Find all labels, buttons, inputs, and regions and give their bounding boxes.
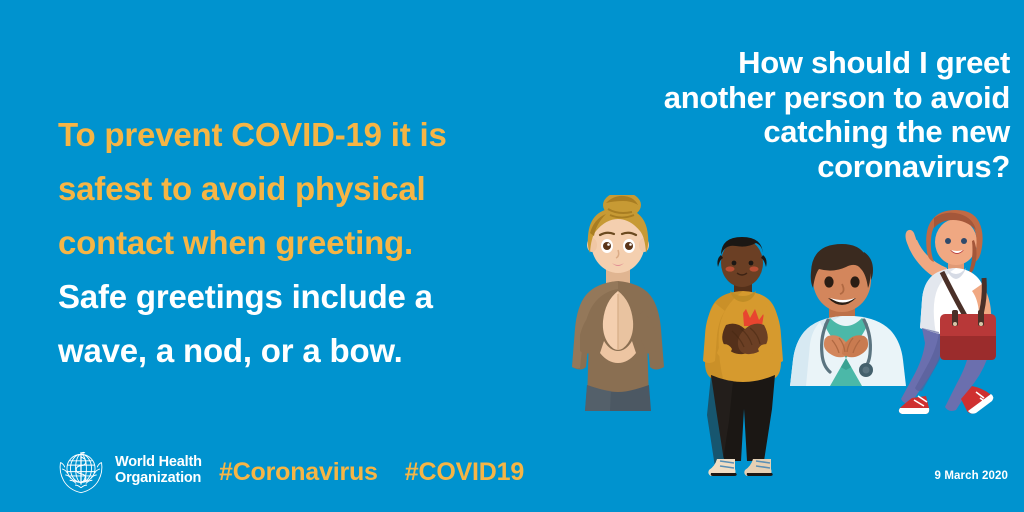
advice-line-2: safest to avoid physical: [58, 162, 528, 216]
headline-question: How should I greet another person to avo…: [540, 46, 1010, 185]
who-wordmark-line-1: World Health: [115, 454, 202, 470]
who-wordmark-line-2: Organization: [115, 470, 202, 486]
advice-line-3: contact when greeting.: [58, 216, 528, 270]
headline-line-3: catching the new: [540, 115, 1010, 150]
headline-line-1: How should I greet: [540, 46, 1010, 81]
who-infographic-poster: How should I greet another person to avo…: [0, 0, 1024, 512]
advice-message: To prevent COVID-19 it is safest to avoi…: [58, 108, 528, 378]
advice-line-1: To prevent COVID-19 it is: [58, 108, 528, 162]
who-emblem-icon: [54, 443, 108, 497]
headline-line-2: another person to avoid: [540, 81, 1010, 116]
figure-waving-woman: [898, 210, 1022, 432]
hashtag-group: #Coronavirus #COVID19: [219, 458, 524, 487]
headline-line-4: coronavirus?: [540, 150, 1010, 185]
who-logo: World Health Organization: [54, 443, 202, 497]
figure-doctor-hands-on-chest: [784, 240, 908, 386]
safe-greetings-illustration: [540, 185, 1024, 485]
advice-line-5: wave, a nod, or a bow.: [58, 324, 528, 378]
figure-namaste-greeting: [554, 195, 682, 411]
hashtag-coronavirus[interactable]: #Coronavirus: [219, 458, 378, 487]
publication-date: 9 March 2020: [935, 470, 1008, 482]
who-wordmark: World Health Organization: [115, 454, 202, 486]
hashtag-covid19[interactable]: #COVID19: [405, 458, 524, 487]
advice-line-4: Safe greetings include a: [58, 270, 528, 324]
